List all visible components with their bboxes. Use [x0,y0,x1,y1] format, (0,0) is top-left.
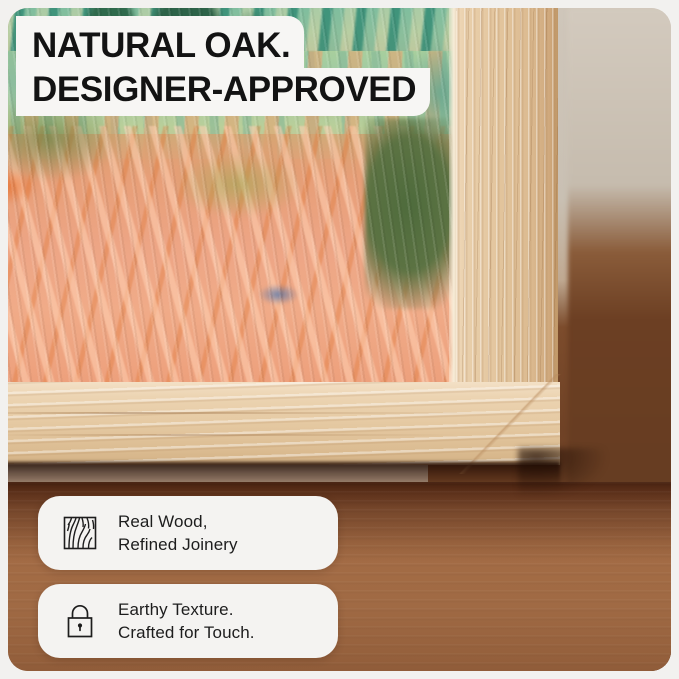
headline-line-2-row: DESIGNER-APPROVED [16,68,486,116]
feature-badge: Real Wood, Refined Joinery [38,496,338,570]
lock-icon [60,601,100,641]
headline-line-2: DESIGNER-APPROVED [16,68,430,116]
frame-corner-shadow [518,448,608,498]
feature-badge-text: Earthy Texture. Crafted for Touch. [118,598,255,644]
feature-badge-text: Real Wood, Refined Joinery [118,510,238,556]
wood-grain-icon [60,513,100,553]
frame-cast-shadow [8,462,560,488]
frame-bottom-streak-2 [8,434,458,436]
headline-line-1: NATURAL OAK. [16,16,304,68]
feature-badge-list: Real Wood, Refined Joinery Earthy Textur… [38,496,338,658]
product-image-stage: NATURAL OAK. DESIGNER-APPROVED [0,0,679,679]
feature-badge: Earthy Texture. Crafted for Touch. [38,584,338,658]
frame-bottom-streak-1 [8,412,508,414]
headline-line-1-row: NATURAL OAK. [16,16,486,68]
product-photo: NATURAL OAK. DESIGNER-APPROVED [8,8,671,671]
headline-block: NATURAL OAK. DESIGNER-APPROVED [16,16,486,116]
